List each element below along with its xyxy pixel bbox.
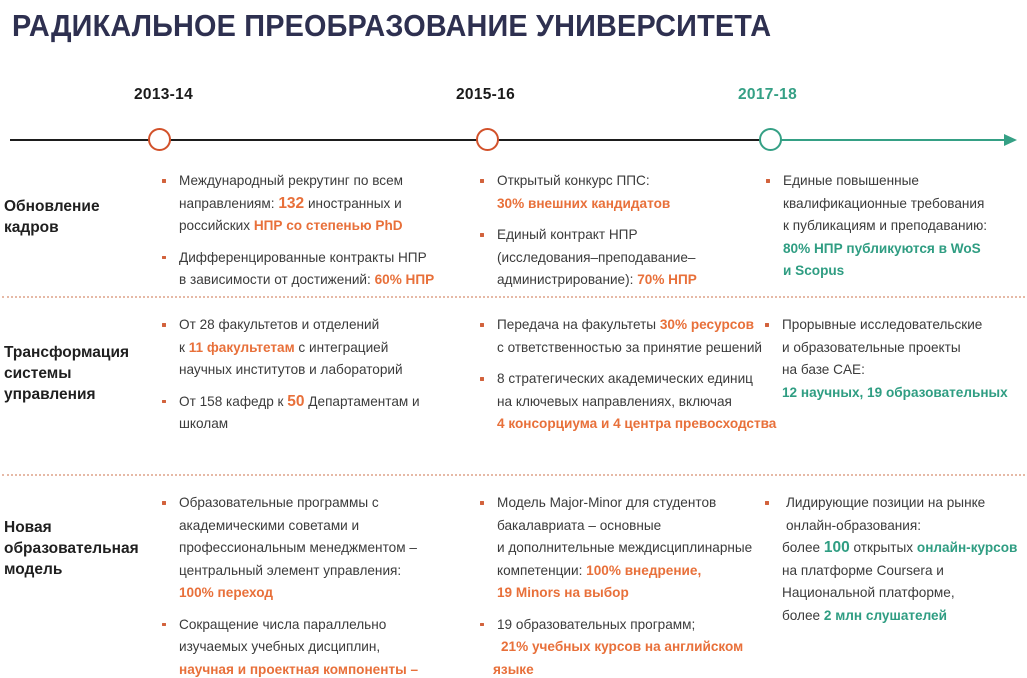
row-label-education-model: Новая образовательная модель [4, 517, 154, 580]
text-line: От 28 факультетов и отделений [179, 317, 379, 332]
text-line: научных институтов и лабораторий [179, 362, 403, 377]
cell-staff-2015-16: Открытый конкурс ППС: 30% внешних кандид… [478, 170, 768, 301]
page-title: РАДИКАЛЬНОЕ ПРЕОБРАЗОВАНИЕ УНИВЕРСИТЕТА [12, 7, 923, 45]
text-line: Передача на факультеты [497, 317, 660, 332]
text-line: Единый контракт НПР [497, 227, 638, 242]
metric-highlight: научная и проектная компоненты – [179, 662, 418, 677]
cell-education-2015-16: Модель Major-Minor для студентов бакалав… [478, 492, 758, 678]
metric-highlight: 60% НПР [375, 272, 435, 287]
timeline: 2013-14 2015-16 2017-18 [0, 86, 1027, 148]
timeline-label-2015-16: 2015-16 [456, 86, 515, 104]
text-line: От 158 кафедр к [179, 394, 287, 409]
metric-highlight: 12 научных, 19 образовательных [782, 385, 1008, 400]
text-line: изучаемых учебных дисциплин, [179, 639, 380, 654]
text-line: Открытый конкурс ППС: [497, 173, 650, 188]
list-item: Сокращение числа параллельно изучаемых у… [160, 614, 460, 678]
timeline-arrow-icon [1004, 134, 1017, 146]
text-line: Сокращение числа параллельно [179, 617, 386, 632]
cell-governance-2015-16: Передача на факультеты 30% ресурсов с от… [478, 314, 778, 445]
text-line: академическими советами и [179, 518, 359, 533]
list-item: Передача на факультеты 30% ресурсов с от… [478, 314, 778, 359]
metric-value: 50 [287, 393, 304, 410]
text-line: Прорывные исследовательские [782, 317, 982, 332]
text-line: в зависимости от достижений: [179, 272, 375, 287]
list-item: Прорывные исследовательские и образовате… [763, 314, 1025, 404]
text-line: направлениям: [179, 196, 278, 211]
text-line: и дополнительные междисциплинарные [497, 540, 752, 555]
row-label-line: образовательная [4, 538, 154, 559]
text-line: Дифференцированные контракты НПР [179, 250, 427, 265]
text-line: Национальной платформе, [782, 585, 955, 600]
text-line: и образовательные проекты [782, 340, 961, 355]
metric-highlight: 30% внешних кандидатов [497, 196, 670, 211]
metric-highlight: и Scopus [783, 263, 844, 278]
metric-highlight: 80% НПР публикуются в WoS [783, 241, 981, 256]
text-line: квалификационные требования [783, 196, 984, 211]
list-item: Единые повышенные квалификационные требо… [764, 170, 1020, 283]
list-item: Образовательные программы с академически… [160, 492, 460, 605]
text-line: компетенции: [497, 563, 586, 578]
text-line: на платформе Coursera и [782, 563, 944, 578]
timeline-label-2017-18: 2017-18 [738, 86, 797, 104]
cell-governance-2013-14: От 28 факультетов и отделений к 11 факул… [160, 314, 460, 445]
row-label-line: управления [4, 384, 154, 405]
text-line: российских [179, 218, 254, 233]
timeline-axis-dark [10, 139, 770, 141]
row-divider-2 [2, 474, 1025, 476]
metric-highlight: 70% НПР [637, 272, 697, 287]
list-item: 8 стратегических академических единиц на… [478, 368, 778, 436]
row-label-line: Обновление [4, 196, 154, 217]
text-line: школам [179, 416, 228, 431]
metric-highlight: НПР со степенью PhD [254, 218, 403, 233]
list-item: 19 образовательных программ; 21% учебных… [478, 614, 758, 678]
text-line: Модель Major-Minor для студентов [497, 495, 716, 510]
timeline-node-2017-18[interactable] [759, 128, 782, 151]
text-line: на ключевых направлениях, включая [497, 394, 732, 409]
cell-staff-2013-14: Международный рекрутинг по всем направле… [160, 170, 460, 301]
row-label-line: модель [4, 559, 154, 580]
text-line: Международный рекрутинг по всем [179, 173, 403, 188]
cell-education-2017-18: Лидирующие позиции на рынке онлайн-образ… [763, 492, 1025, 636]
list-item: Единый контракт НПР (исследования–препод… [478, 224, 768, 292]
text-line: Департаментам и [305, 394, 420, 409]
metric-value: 132 [278, 195, 304, 212]
cell-education-2013-14: Образовательные программы с академически… [160, 492, 460, 678]
text-line: с ответственностью за принятие решений [497, 340, 762, 355]
list-item: Международный рекрутинг по всем направле… [160, 170, 460, 238]
timeline-axis-green [770, 139, 1010, 141]
text-line: профессиональным менеджментом – [179, 540, 417, 555]
text-line: открытых [850, 540, 917, 555]
text-line: более [782, 608, 824, 623]
list-item: От 28 факультетов и отделений к 11 факул… [160, 314, 460, 382]
row-label-line: системы [4, 363, 154, 384]
metric-highlight: 4 консорциума и 4 центра превосходства [497, 416, 776, 431]
text-line: на базе CAE: [782, 362, 865, 377]
metric-highlight: онлайн-курсов [917, 540, 1018, 555]
text-line: центральный элемент управления: [179, 563, 401, 578]
text-line: к публикациям и преподаванию: [783, 218, 987, 233]
text-line: иностранных и [304, 196, 402, 211]
cell-governance-2017-18: Прорывные исследовательские и образовате… [763, 314, 1025, 413]
row-label-line: Трансформация [4, 342, 154, 363]
slide-root: РАДИКАЛЬНОЕ ПРЕОБРАЗОВАНИЕ УНИВЕРСИТЕТА … [0, 0, 1027, 678]
metric-highlight: 19 Minors на выбор [497, 585, 629, 600]
metric-highlight: языке [493, 662, 534, 677]
text-line: более [782, 540, 824, 555]
text-line: Лидирующие позиции на рынке [786, 495, 985, 510]
text-line: к [179, 340, 189, 355]
list-item: Модель Major-Minor для студентов бакалав… [478, 492, 758, 605]
list-item: От 158 кафедр к 50 Департаментам и школа… [160, 391, 460, 436]
text-line: 8 стратегических академических единиц [497, 371, 753, 386]
timeline-label-2013-14: 2013-14 [134, 86, 193, 104]
row-label-line: кадров [4, 217, 154, 238]
text-line: онлайн-образования: [786, 518, 921, 533]
row-label-staff-renewal: Обновление кадров [4, 196, 154, 238]
text-line: Единые повышенные [783, 173, 919, 188]
list-item: Лидирующие позиции на рынке онлайн-образ… [763, 492, 1025, 627]
text-line: бакалавриата – основные [497, 518, 661, 533]
list-item: Открытый конкурс ППС: 30% внешних кандид… [478, 170, 768, 215]
list-item: Дифференцированные контракты НПР в завис… [160, 247, 460, 292]
text-line: 19 образовательных программ; [497, 617, 695, 632]
row-label-governance: Трансформация системы управления [4, 342, 154, 405]
metric-highlight: 21% учебных курсов на английском [501, 639, 743, 654]
metric-highlight: 30% ресурсов [660, 317, 754, 332]
text-line: (исследования–преподавание– [497, 250, 696, 265]
cell-staff-2017-18: Единые повышенные квалификационные требо… [764, 170, 1020, 292]
metric-highlight: 2 млн слушателей [824, 608, 947, 623]
metric-highlight: 11 факультетам [189, 340, 295, 355]
text-line: с интеграцией [295, 340, 389, 355]
row-label-line: Новая [4, 517, 154, 538]
timeline-node-2015-16[interactable] [476, 128, 499, 151]
text-line: администрирование): [497, 272, 637, 287]
row-divider-1 [2, 296, 1025, 298]
metric-highlight: 100% переход [179, 585, 273, 600]
timeline-node-2013-14[interactable] [148, 128, 171, 151]
metric-value: 100 [824, 539, 850, 556]
text-line: Образовательные программы с [179, 495, 379, 510]
metric-highlight: 100% внедрение, [586, 563, 701, 578]
